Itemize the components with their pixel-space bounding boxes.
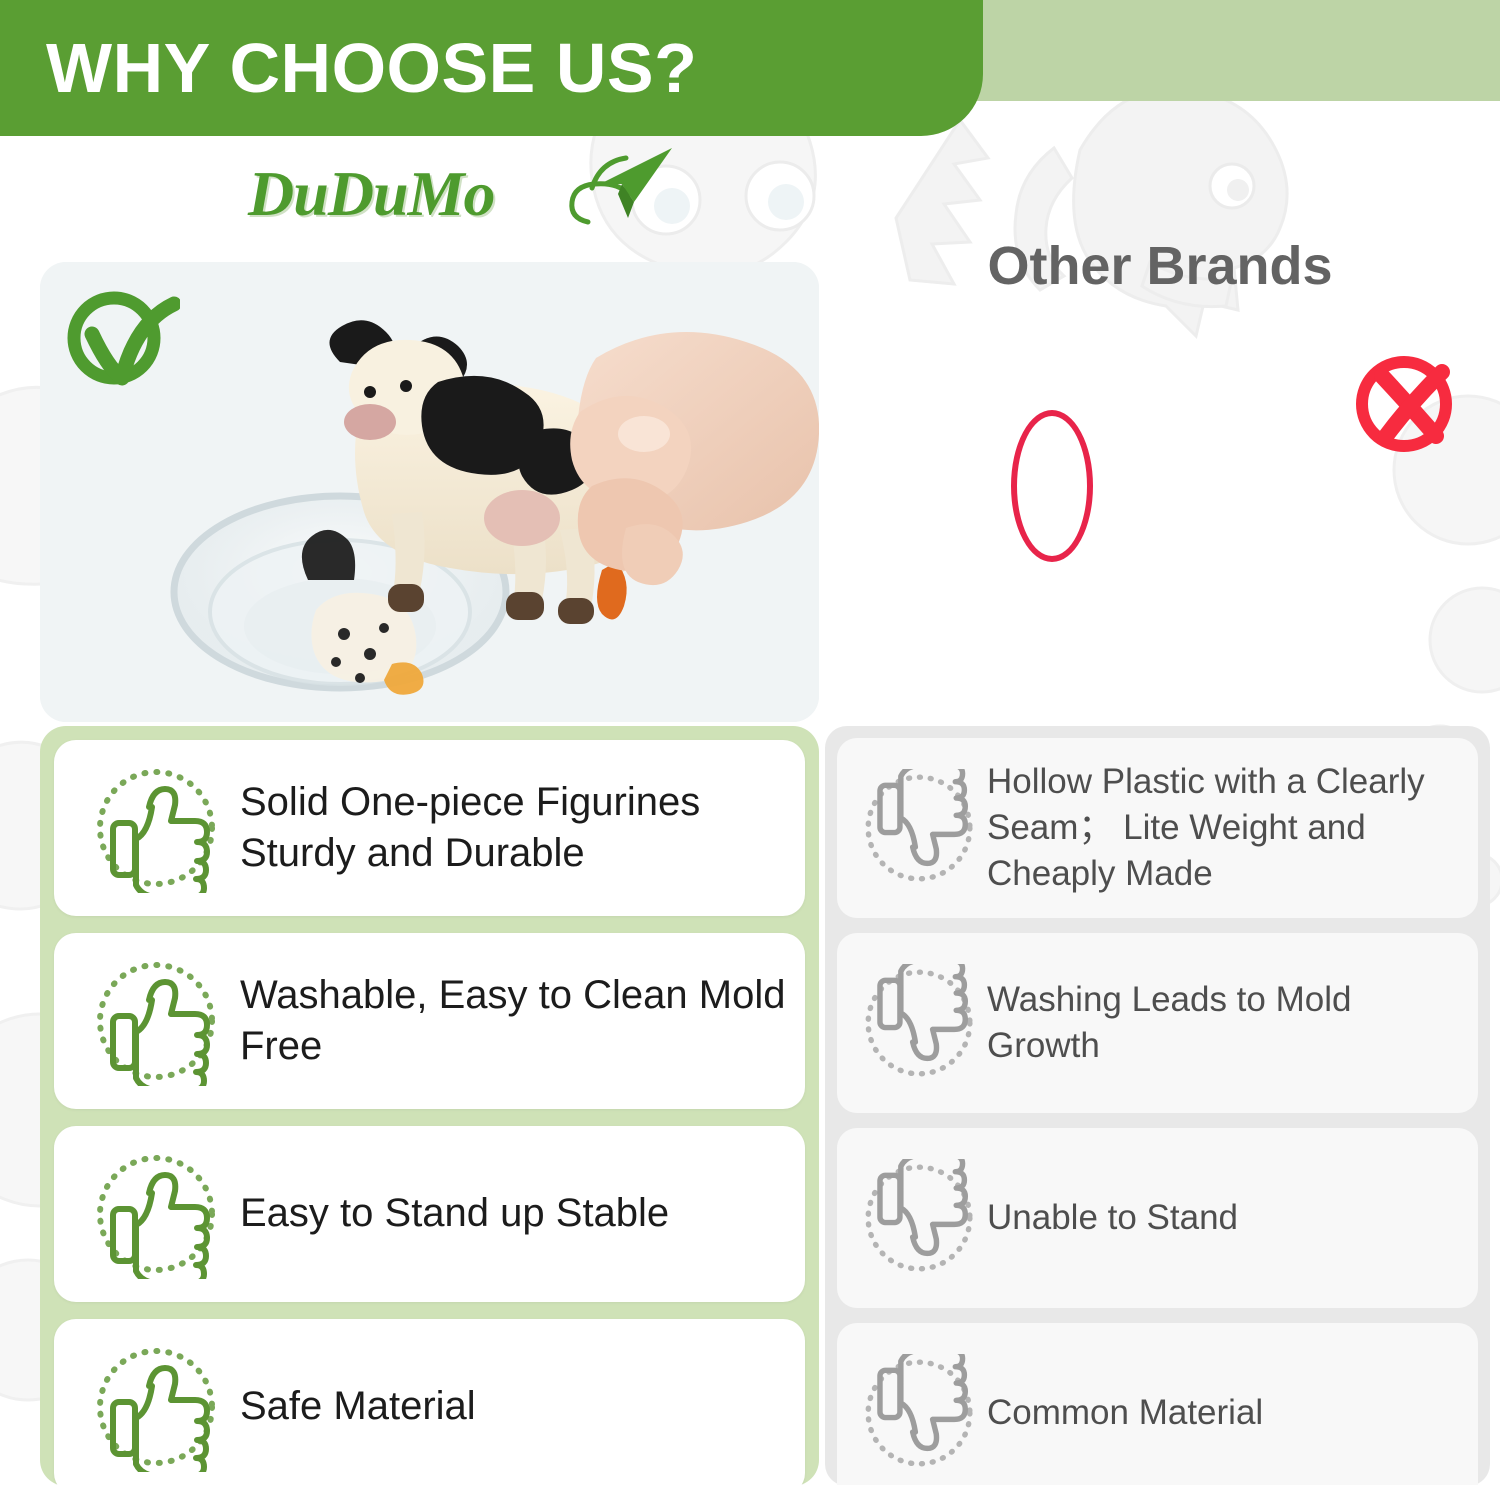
list-item-label: Safe Material xyxy=(240,1381,476,1432)
brand-logo: DuDuMo xyxy=(248,158,648,250)
list-item[interactable]: Hollow Plastic with a Clearly Seam； Lite… xyxy=(837,738,1478,918)
list-item[interactable]: Washable, Easy to Clean Mold Free xyxy=(54,933,805,1109)
list-item-label: Washable, Easy to Clean Mold Free xyxy=(240,970,805,1072)
list-item-label: Unable to Stand xyxy=(987,1195,1238,1241)
thumbs-down-icon xyxy=(859,769,979,887)
thumbs-up-icon xyxy=(90,956,222,1086)
thumbs-up-icon xyxy=(90,1342,222,1472)
paper-plane-icon xyxy=(548,144,678,245)
other-brands-product-photo xyxy=(825,322,1490,722)
thumbs-down-icon xyxy=(859,1159,979,1277)
list-item-label: Easy to Stand up Stable xyxy=(240,1188,669,1239)
other-brands-heading: Other Brands xyxy=(820,238,1500,295)
thumbs-up-icon xyxy=(90,1149,222,1279)
thumbs-down-icon xyxy=(859,964,979,1082)
thumbs-up-icon xyxy=(90,763,222,893)
list-item[interactable]: Common Material xyxy=(837,1323,1478,1485)
why-choose-us-infographic: WHY CHOOSE US? DuDuMo Other Brands xyxy=(0,0,1500,1485)
brand-logo-text: DuDuMo xyxy=(248,162,495,226)
list-item-label: Washing Leads to Mold Growth xyxy=(987,977,1464,1069)
green-check-circle-icon xyxy=(62,282,180,397)
header-bar: WHY CHOOSE US? xyxy=(0,0,983,136)
list-item-label: Hollow Plastic with a Clearly Seam； Lite… xyxy=(987,759,1464,898)
list-item[interactable]: Unable to Stand xyxy=(837,1128,1478,1308)
list-item-label: Solid One-piece Figurines Sturdy and Dur… xyxy=(240,777,805,879)
list-item-label: Common Material xyxy=(987,1390,1263,1436)
page-title: WHY CHOOSE US? xyxy=(46,33,697,103)
seam-highlight-ellipse xyxy=(1011,410,1093,562)
red-x-circle-icon xyxy=(1350,346,1462,463)
thumbs-down-icon xyxy=(859,1354,979,1472)
list-item[interactable]: Easy to Stand up Stable xyxy=(54,1126,805,1302)
list-item[interactable]: Safe Material xyxy=(54,1319,805,1485)
dudumo-benefits-list: Solid One-piece Figurines Sturdy and Dur… xyxy=(40,726,819,1485)
list-item[interactable]: Solid One-piece Figurines Sturdy and Dur… xyxy=(54,740,805,916)
list-item[interactable]: Washing Leads to Mold Growth xyxy=(837,933,1478,1113)
other-brands-drawbacks-list: Hollow Plastic with a Clearly Seam； Lite… xyxy=(825,726,1490,1485)
dudumo-product-photo xyxy=(40,262,819,722)
